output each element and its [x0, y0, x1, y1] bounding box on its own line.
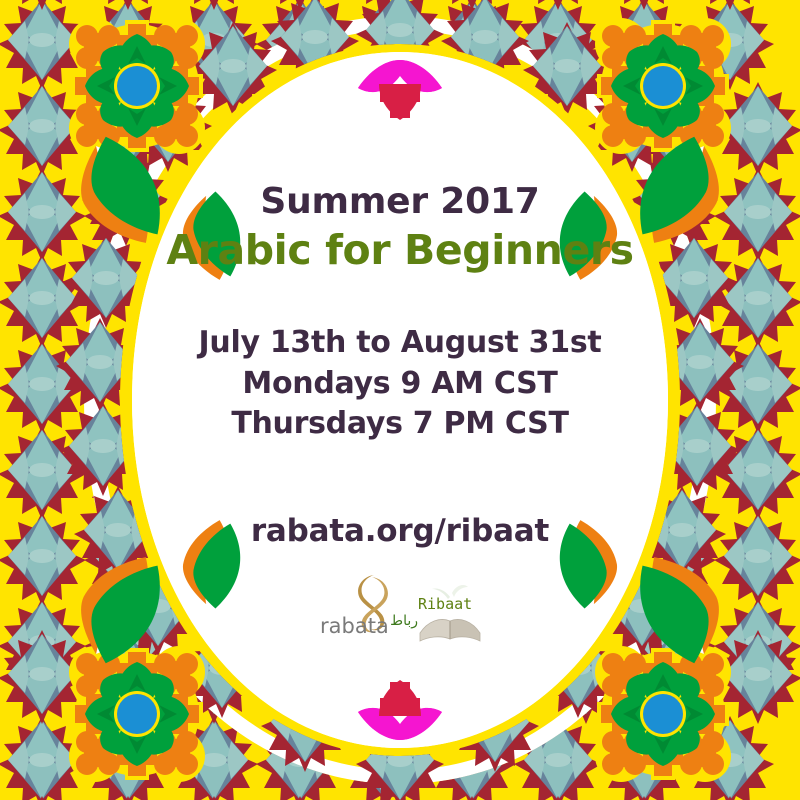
logo-lockup[interactable]: rabata Ribaat رباط	[312, 567, 488, 651]
course-title: Arabic for Beginners	[166, 228, 633, 274]
rabata-wordmark: rabata	[320, 614, 389, 638]
schedule-block: July 13th to August 31st Mondays 9 AM CS…	[199, 326, 602, 448]
ribaat-wordmark: Ribaat	[418, 595, 472, 613]
season-heading: Summer 2017	[166, 182, 633, 222]
corner-medallion-top-right	[595, 18, 731, 154]
schedule-line-dates: July 13th to August 31st	[199, 326, 602, 360]
website-url[interactable]: rabata.org/ribaat	[251, 514, 549, 549]
schedule-line-monday: Mondays 9 AM CST	[199, 367, 602, 401]
title-block: Summer 2017 Arabic for Beginners	[166, 182, 633, 274]
schedule-line-thursday: Thursdays 7 PM CST	[199, 407, 602, 441]
corner-medallion-bottom-left	[69, 646, 205, 782]
logo-lockup-graphic: rabata Ribaat رباط	[312, 567, 488, 651]
corner-medallion-top-left	[69, 18, 205, 154]
corner-medallion-bottom-right	[595, 646, 731, 782]
ribaat-arabic-wordmark: رباط	[390, 613, 418, 629]
poster-canvas: Summer 2017 Arabic for Beginners July 13…	[0, 0, 800, 800]
